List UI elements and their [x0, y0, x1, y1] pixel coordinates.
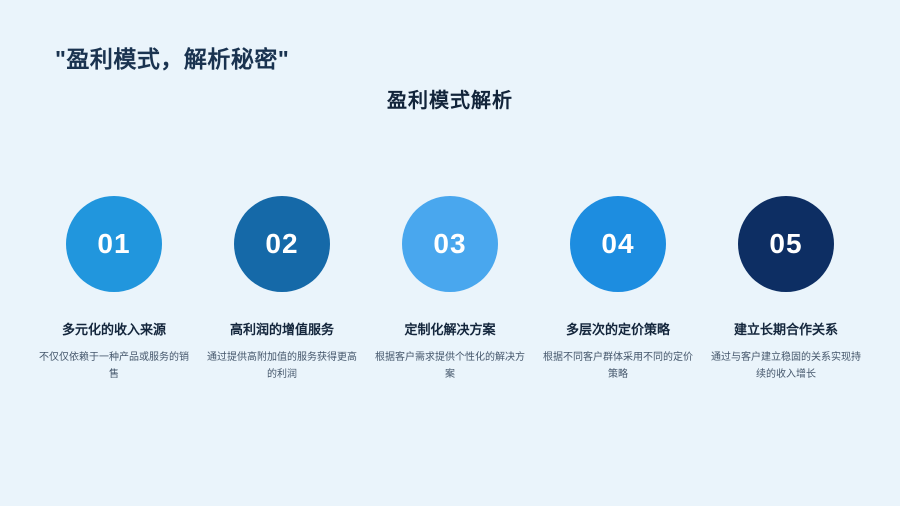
step-description-3: 根据客户需求提供个性化的解决方案 — [375, 350, 525, 383]
slide-canvas: "盈利模式，解析秘密" 盈利模式解析 01 多元化的收入来源 不仅仅依赖于一种产… — [0, 0, 900, 506]
step-item-1: 01 多元化的收入来源 不仅仅依赖于一种产品或服务的销售 — [30, 196, 198, 383]
step-description-2: 通过提供高附加值的服务获得更高的利润 — [207, 350, 357, 383]
step-number-3: 03 — [433, 228, 466, 260]
page-title: "盈利模式，解析秘密" — [55, 40, 289, 74]
step-item-3: 03 定制化解决方案 根据客户需求提供个性化的解决方案 — [366, 196, 534, 383]
page-subtitle: 盈利模式解析 — [0, 84, 900, 113]
step-description-5: 通过与客户建立稳固的关系实现持续的收入增长 — [711, 350, 861, 383]
step-number-badge-4: 04 — [570, 196, 666, 292]
step-description-4: 根据不同客户群体采用不同的定价策略 — [543, 350, 693, 383]
step-title-1: 多元化的收入来源 — [62, 321, 166, 339]
step-number-badge-5: 05 — [738, 196, 834, 292]
step-number-badge-3: 03 — [402, 196, 498, 292]
steps-container: 01 多元化的收入来源 不仅仅依赖于一种产品或服务的销售 02 高利润的增值服务… — [30, 196, 870, 383]
step-number-badge-2: 02 — [234, 196, 330, 292]
step-number-2: 02 — [265, 228, 298, 260]
step-item-4: 04 多层次的定价策略 根据不同客户群体采用不同的定价策略 — [534, 196, 702, 383]
step-title-2: 高利润的增值服务 — [230, 321, 334, 339]
step-description-1: 不仅仅依赖于一种产品或服务的销售 — [39, 350, 189, 383]
step-number-5: 05 — [769, 228, 802, 260]
step-item-5: 05 建立长期合作关系 通过与客户建立稳固的关系实现持续的收入增长 — [702, 196, 870, 383]
step-number-badge-1: 01 — [66, 196, 162, 292]
step-title-4: 多层次的定价策略 — [566, 321, 670, 339]
step-title-3: 定制化解决方案 — [404, 321, 495, 339]
step-number-4: 04 — [601, 228, 634, 260]
step-number-1: 01 — [97, 228, 130, 260]
step-item-2: 02 高利润的增值服务 通过提供高附加值的服务获得更高的利润 — [198, 196, 366, 383]
step-title-5: 建立长期合作关系 — [734, 321, 838, 339]
